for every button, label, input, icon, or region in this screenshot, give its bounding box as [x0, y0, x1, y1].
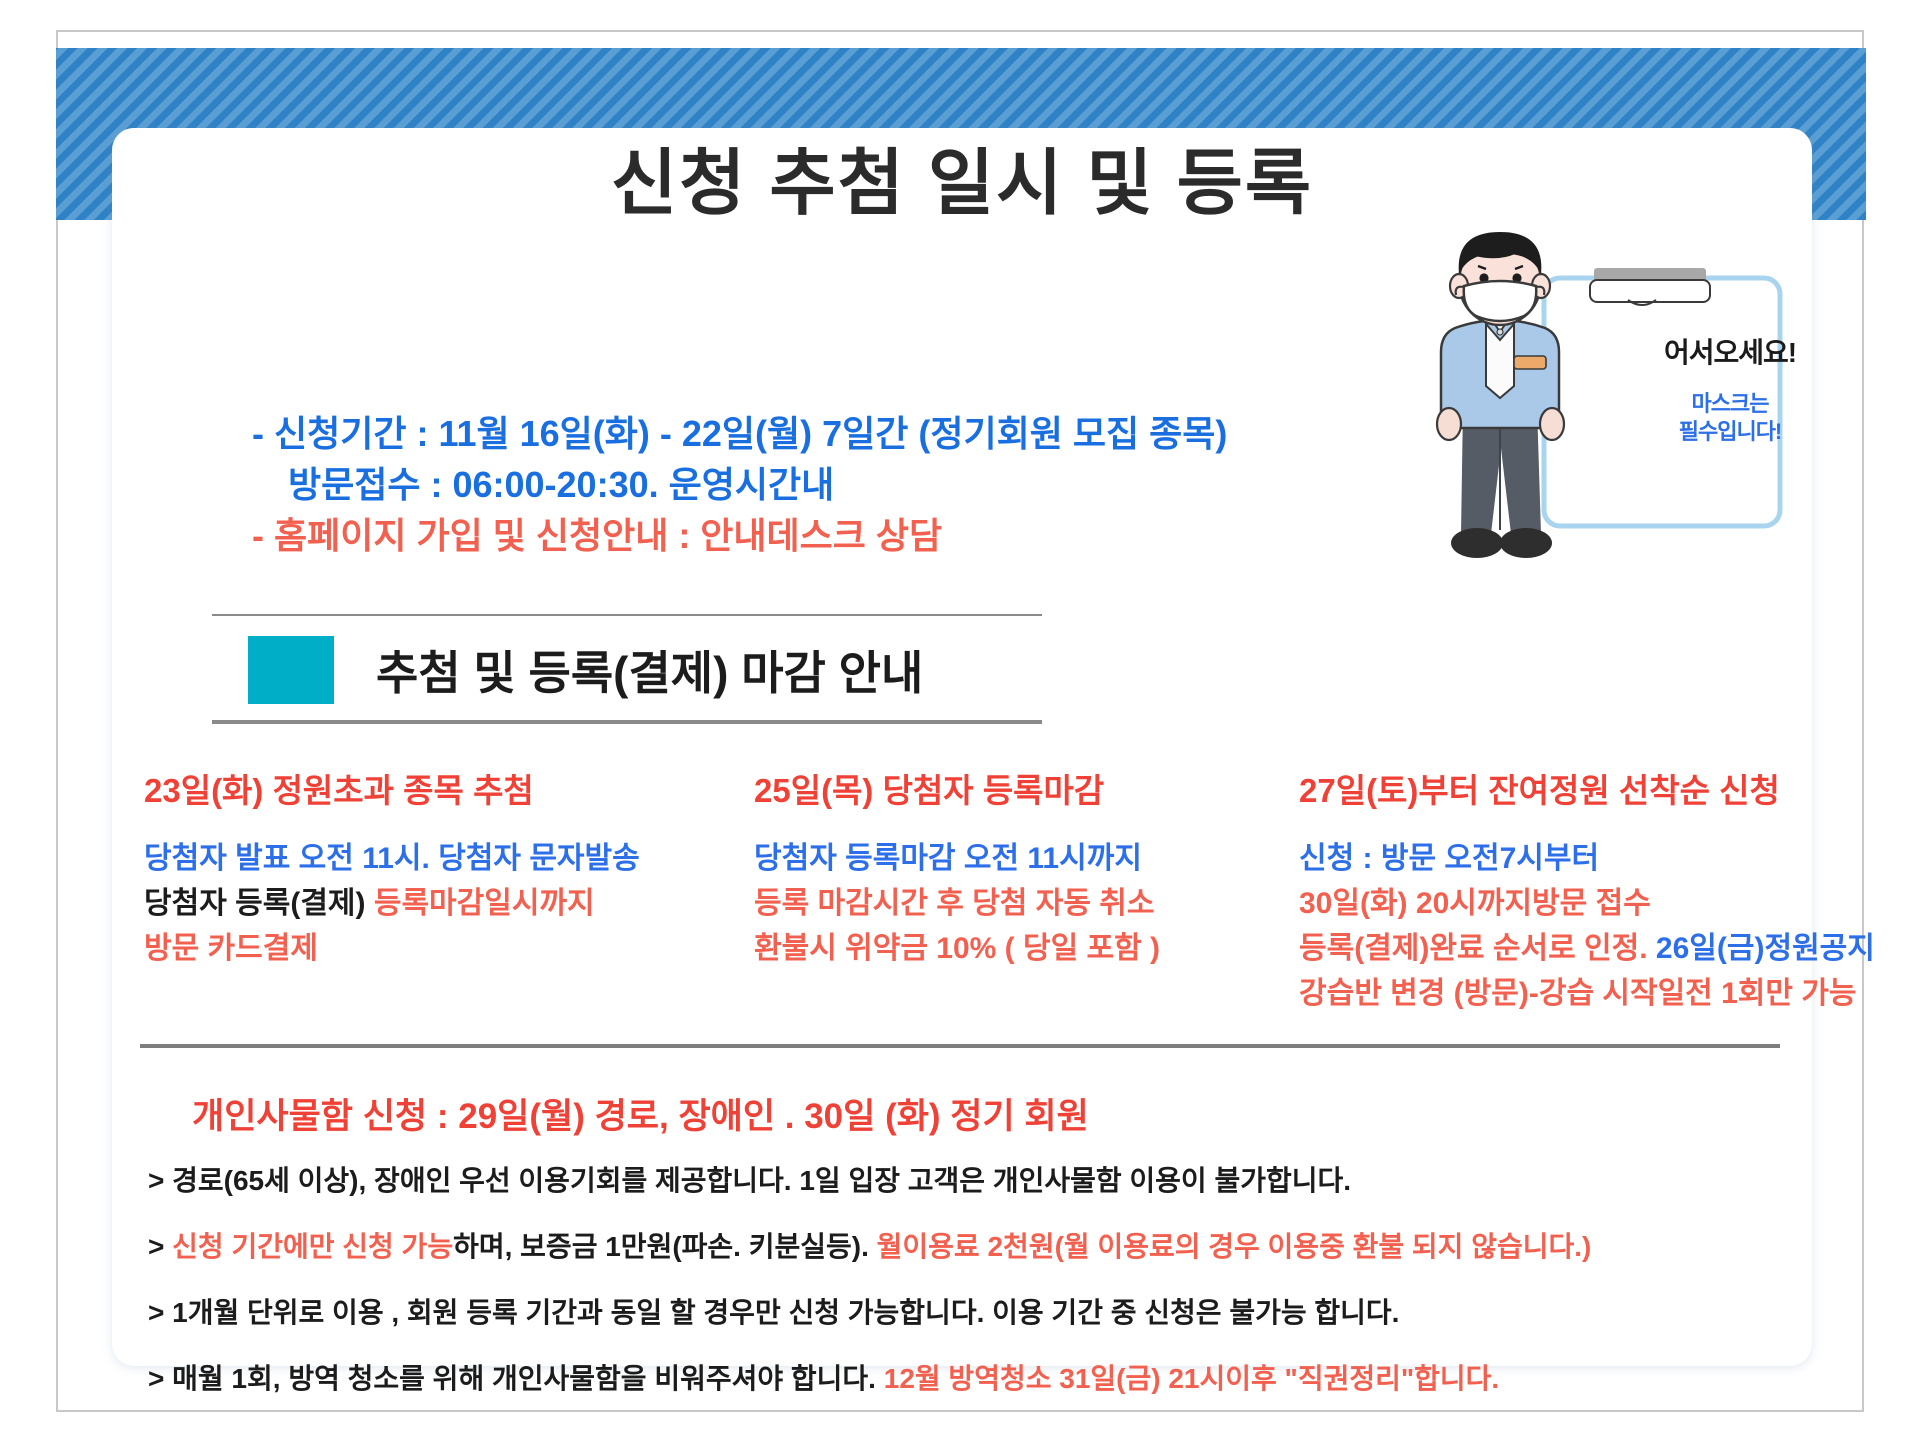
column-line: 당첨자 등록(결제) 등록마감일시까지 [144, 881, 754, 926]
info-line-3: - 홈페이지 가입 및 신청안내 : 안내데스크 상담 [252, 510, 1472, 561]
clipboard-mask-line: 필수입니다! [1679, 419, 1782, 444]
text-run: 등록마감일시까지 [374, 887, 595, 920]
three-column-schedule: 23일(화) 정원초과 종목 추첨 당첨자 발표 오전 11시. 당첨자 문자발… [144, 764, 1804, 1016]
column-line: 등록(결제)완료 순서로 인정. 26일(금)정원공지 [1299, 926, 1804, 971]
text-run: > 1개월 단위로 이용 , 회원 등록 기간과 동일 할 경우만 신청 가능합… [148, 1297, 1399, 1328]
column-lines: 당첨자 발표 오전 11시. 당첨자 문자발송당첨자 등록(결제) 등록마감일시… [144, 836, 754, 971]
clipboard-greeting: 어서오세요! [1640, 331, 1820, 371]
divider-full [140, 1044, 1780, 1048]
divider-medium [212, 720, 1042, 724]
column-line: 등록 마감시간 후 당첨 자동 취소 [754, 881, 1299, 926]
text-run: 하며, 보증금 1만원(파손. 키분실등). [453, 1231, 877, 1262]
locker-bullet-list: > 경로(65세 이상), 장애인 우선 이용기회를 제공합니다. 1일 입장 … [148, 1162, 1788, 1426]
section-header: 추첨 및 등록(결제) 마감 안내 [248, 636, 923, 704]
text-run: 당첨자 등록(결제) [144, 887, 374, 920]
text-run: 방문 카드결제 [144, 932, 318, 965]
info-line-1: - 신청기간 : 11월 16일(화) - 22일(월) 7일간 (정기회원 모… [252, 408, 1472, 459]
text-run: 30일(화) 20시까지방문 접수 [1299, 887, 1651, 920]
text-run: 당첨자 발표 오전 11시. 당첨자 문자발송 [144, 842, 640, 875]
column-heading: 23일(화) 정원초과 종목 추첨 [144, 764, 754, 812]
text-run: 당첨자 등록마감 오전 11시까지 [754, 842, 1142, 875]
bullet-item: > 경로(65세 이상), 장애인 우선 이용기회를 제공합니다. 1일 입장 … [148, 1162, 1788, 1200]
text-run: 신청 : 방문 오전7시부터 [1299, 842, 1599, 875]
column-lines: 당첨자 등록마감 오전 11시까지등록 마감시간 후 당첨 자동 취소환불시 위… [754, 836, 1299, 971]
schedule-column-2: 25일(목) 당첨자 등록마감 당첨자 등록마감 오전 11시까지등록 마감시간… [754, 764, 1299, 1016]
text-run: 신청 기간에만 신청 가능 [172, 1231, 453, 1262]
text-run: > 매월 1회, 방역 청소를 위해 개인사물함을 비워주셔야 합니다. [148, 1363, 884, 1394]
page-title: 신청 추첨 일시 및 등록 [112, 148, 1812, 220]
text-run: 강습반 변경 (방문)-강습 시작일전 1회만 가능 [1299, 977, 1857, 1010]
column-line: 당첨자 발표 오전 11시. 당첨자 문자발송 [144, 836, 754, 881]
column-line: 당첨자 등록마감 오전 11시까지 [754, 836, 1299, 881]
text-run: > 경로(65세 이상), 장애인 우선 이용기회를 제공합니다. 1일 입장 … [148, 1165, 1351, 1196]
text-run: 환불시 위약금 10% ( 당일 포함 ) [754, 932, 1160, 965]
text-run: 12월 방역청소 31일(금) 21시이후 "직권정리"합니다. [884, 1363, 1499, 1394]
divider-thin [212, 614, 1042, 616]
column-line: 강습반 변경 (방문)-강습 시작일전 1회만 가능 [1299, 971, 1804, 1016]
bullet-item: > 신청 기간에만 신청 가능하며, 보증금 1만원(파손. 키분실등). 월이… [148, 1228, 1788, 1266]
text-run: > [148, 1231, 172, 1262]
text-run: 월이용료 2천원(월 이용료의 경우 이용중 환불 되지 않습니다.) [877, 1231, 1592, 1262]
column-lines: 신청 : 방문 오전7시부터30일(화) 20시까지방문 접수등록(결제)완료 … [1299, 836, 1804, 1016]
column-line: 환불시 위약금 10% ( 당일 포함 ) [754, 926, 1299, 971]
teal-swatch-icon [248, 636, 334, 704]
text-run: 등록(결제)완료 순서로 인정. [1299, 932, 1656, 965]
text-run: 등록 마감시간 후 당첨 자동 취소 [754, 887, 1154, 920]
locker-section-heading: 개인사물함 신청 : 29일(월) 경로, 장애인 . 30일 (화) 정기 회… [192, 1088, 1089, 1139]
column-line: 신청 : 방문 오전7시부터 [1299, 836, 1804, 881]
staff-illustration: 어서오세요! 마스크는필수입니다! [1422, 228, 1812, 573]
schedule-column-3: 27일(토)부터 잔여정원 선착순 신청 신청 : 방문 오전7시부터30일(화… [1299, 764, 1804, 1016]
clipboard-mask-notice: 마스크는필수입니다! [1640, 390, 1820, 445]
section-title: 추첨 및 등록(결제) 마감 안내 [376, 637, 923, 703]
column-line: 방문 카드결제 [144, 926, 754, 971]
bullet-item: > 매월 1회, 방역 청소를 위해 개인사물함을 비워주셔야 합니다. 12월… [148, 1360, 1788, 1398]
bullet-item: > 1개월 단위로 이용 , 회원 등록 기간과 동일 할 경우만 신청 가능합… [148, 1294, 1788, 1332]
column-heading: 27일(토)부터 잔여정원 선착순 신청 [1299, 764, 1804, 812]
schedule-column-1: 23일(화) 정원초과 종목 추첨 당첨자 발표 오전 11시. 당첨자 문자발… [144, 764, 754, 1016]
column-line: 30일(화) 20시까지방문 접수 [1299, 881, 1804, 926]
clipboard-mask-line: 마스크는 [1692, 391, 1769, 416]
column-heading: 25일(목) 당첨자 등록마감 [754, 764, 1299, 812]
info-lines-block: - 신청기간 : 11월 16일(화) - 22일(월) 7일간 (정기회원 모… [252, 408, 1472, 561]
info-line-2: 방문접수 : 06:00-20:30. 운영시간내 [252, 459, 1472, 510]
main-card: 신청 추첨 일시 및 등록 - 신청기간 : 11월 16일(화) - 22일(… [112, 128, 1812, 1366]
text-run: 26일(금)정원공지 [1656, 932, 1875, 965]
